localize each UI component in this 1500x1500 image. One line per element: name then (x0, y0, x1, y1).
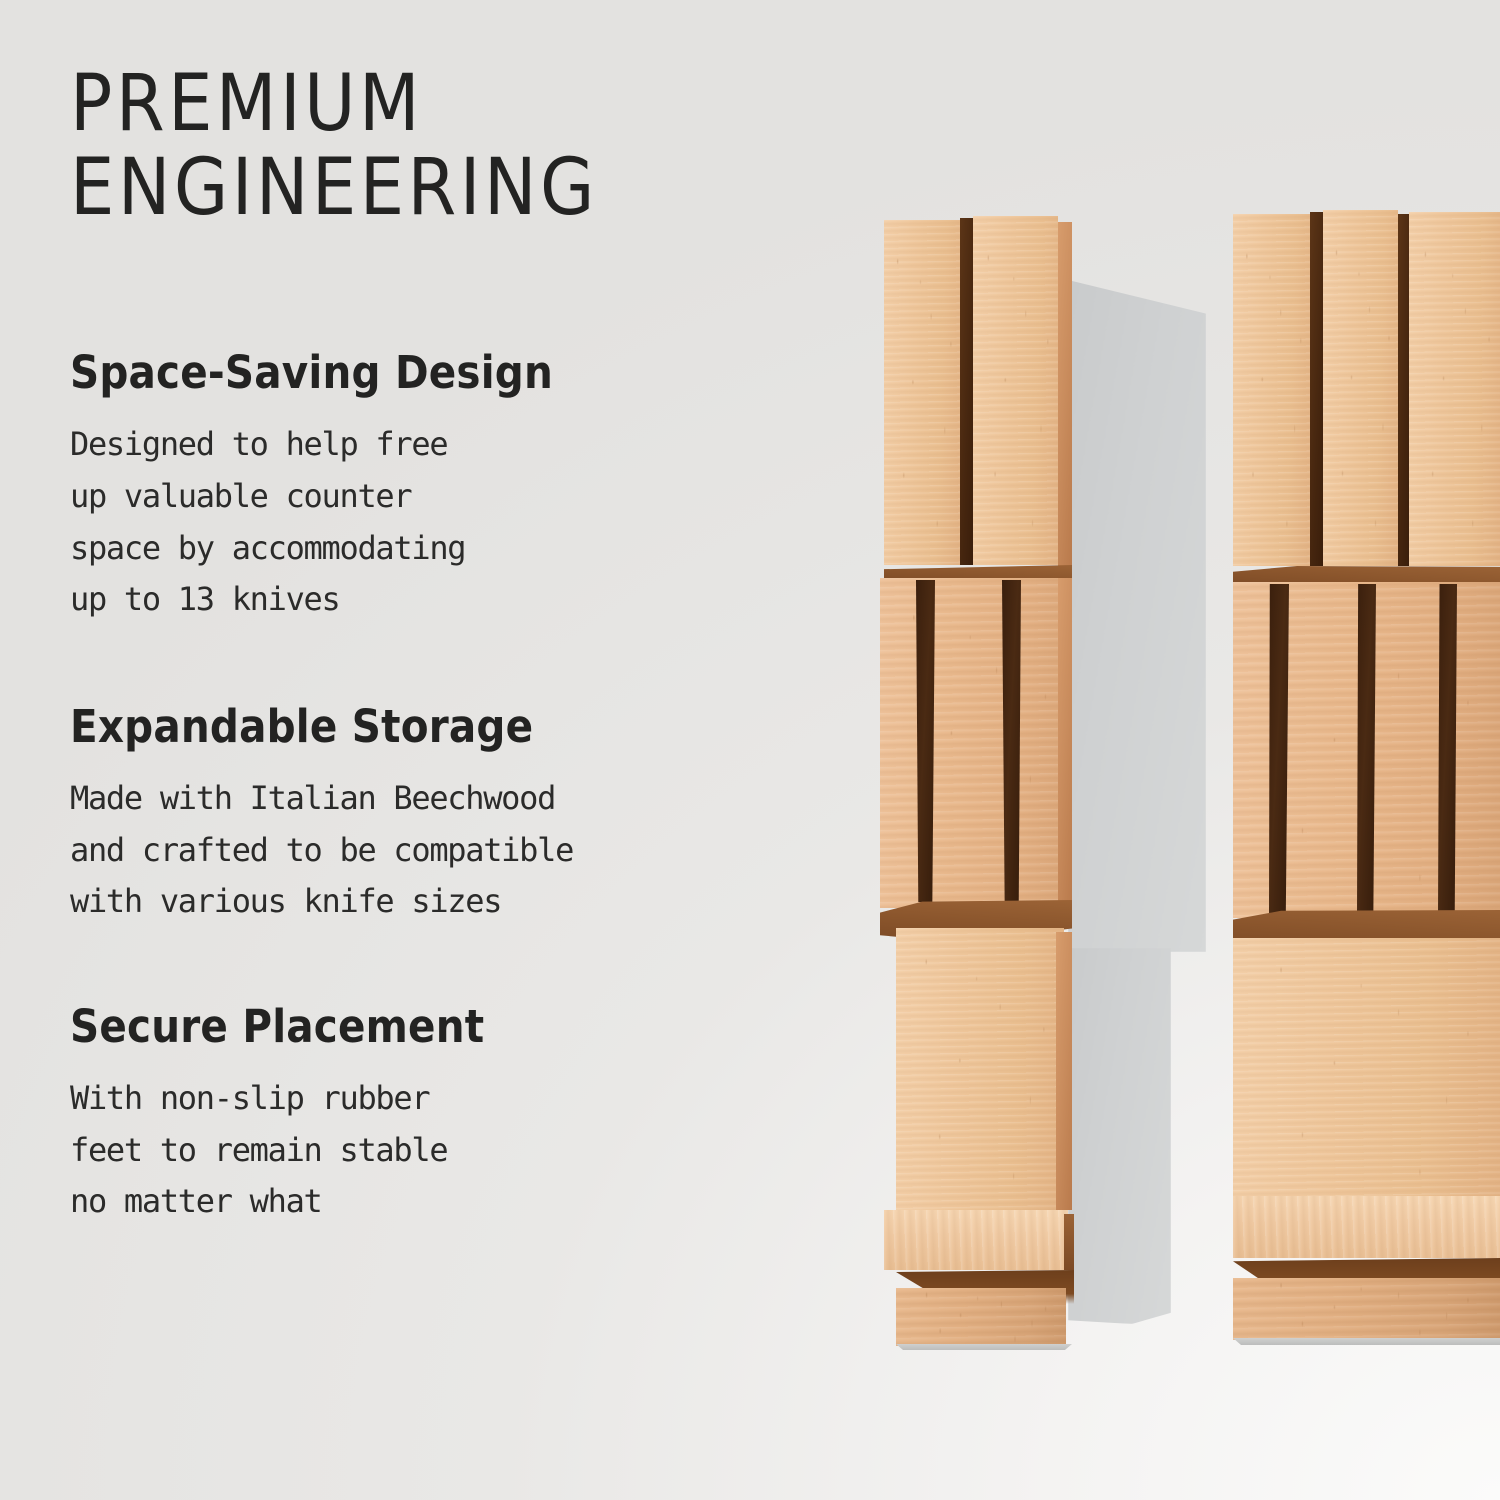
right-bottom-body (1233, 938, 1500, 1204)
feature-body: With non-slip rubber feet to remain stab… (70, 1073, 830, 1228)
feature-space-saving-design: Space-Saving Design Designed to help fre… (70, 348, 830, 626)
block-middle-body (880, 578, 1068, 908)
right-middle-slot-3 (1438, 584, 1457, 914)
block-crossbar-right-edge (1064, 1214, 1074, 1270)
product-photograph (840, 0, 1500, 1500)
block-foot-body (896, 1288, 1066, 1346)
product-feature-panel: PREMIUM ENGINEERING Space-Saving Design … (0, 0, 1500, 1500)
right-knife-block (1233, 208, 1500, 1350)
block-top-slot-1 (960, 218, 973, 565)
block-bottom-right-edge (1056, 932, 1072, 1210)
block-top-right-edge (1058, 222, 1072, 566)
right-foot-body (1233, 1278, 1500, 1340)
block-base-edge (896, 1344, 1072, 1350)
copy-column: PREMIUM ENGINEERING Space-Saving Design … (70, 62, 830, 1228)
feature-body: Designed to help free up valuable counte… (70, 419, 830, 626)
right-top-panel-1 (1233, 214, 1310, 566)
right-top-slot-2 (1398, 214, 1409, 566)
block-top-panel-2 (973, 216, 1058, 565)
feature-title: Secure Placement (70, 1002, 830, 1052)
block-bottom-body (896, 928, 1064, 1210)
feature-body: Made with Italian Beechwood and crafted … (70, 773, 830, 928)
block-middle-slot-1 (916, 580, 935, 902)
right-middle-slot-1 (1269, 584, 1289, 914)
feature-secure-placement: Secure Placement With non-slip rubber fe… (70, 1002, 830, 1228)
block-top-panel-1 (884, 220, 960, 565)
right-middle-slot-2 (1357, 584, 1376, 914)
right-base-edge (1233, 1338, 1500, 1345)
left-knife-block (880, 216, 1112, 1350)
feature-title: Space-Saving Design (70, 348, 830, 398)
feature-title: Expandable Storage (70, 702, 830, 752)
block-crossbar (884, 1210, 1068, 1270)
right-top-panel-2 (1323, 210, 1398, 566)
right-top-panel-3 (1409, 212, 1500, 566)
feature-expandable-storage: Expandable Storage Made with Italian Bee… (70, 702, 830, 928)
block-middle-right-edge (1058, 578, 1072, 908)
block-middle-slot-2 (1002, 580, 1021, 904)
page-title: PREMIUM ENGINEERING (70, 62, 830, 230)
right-top-slot-1 (1310, 212, 1323, 566)
right-crossbar (1233, 1196, 1500, 1258)
